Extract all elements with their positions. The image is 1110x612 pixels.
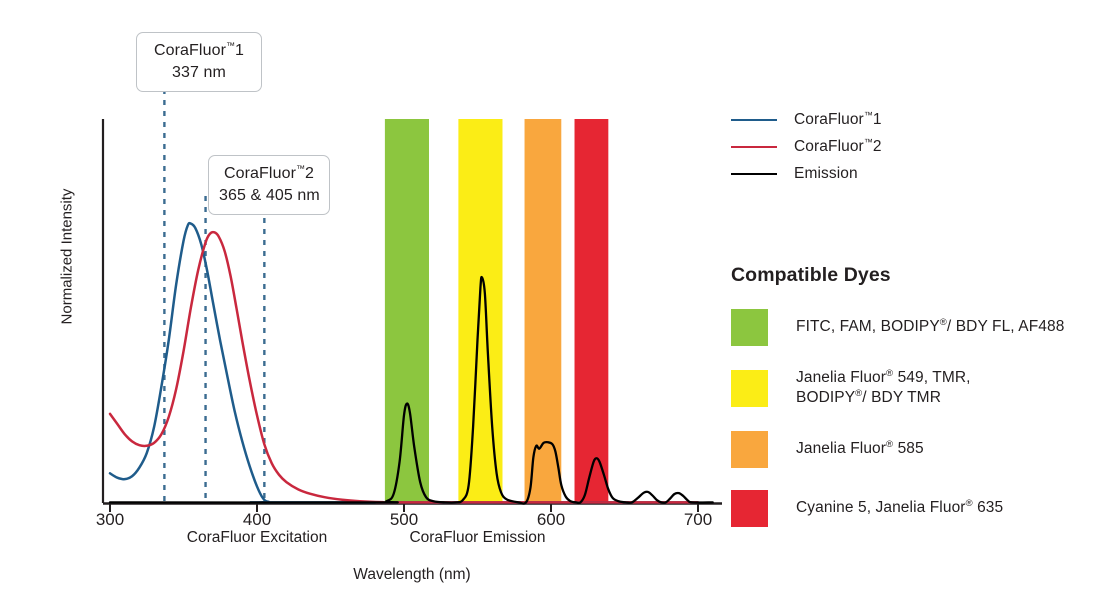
legend-series-row-2[interactable]: CoraFluor™2 [731, 135, 1091, 158]
compatible-dye-bands [385, 119, 608, 504]
annotation-cf2-line1: CoraFluor™2 [219, 163, 319, 185]
trademark-symbol: ™ [864, 136, 873, 146]
dye-legend-row-3[interactable]: Janelia Fluor® 585 [731, 431, 1091, 468]
x-tick-label-500: 500 [374, 510, 434, 530]
compatible-dyes-heading: Compatible Dyes [731, 264, 1091, 287]
x-axis-title: Wavelength (nm) [0, 566, 824, 584]
legend-series-label: CoraFluor™1 [794, 111, 882, 129]
dye-color-swatch [731, 490, 768, 527]
dye-band-3 [525, 119, 562, 504]
dye-name-line: BODIPY®/ BDY TMR [796, 388, 971, 408]
trademark-symbol: ™ [226, 41, 235, 51]
legend-series-row-1[interactable]: CoraFluor™1 [731, 108, 1091, 131]
dye-name-label: Janelia Fluor® 549, TMR,BODIPY®/ BDY TMR [796, 368, 971, 409]
legend-line-swatch [731, 173, 777, 175]
legend-panel: CoraFluor™1CoraFluor™2Emission Compatibl… [731, 108, 1091, 527]
x-tick-label-400: 400 [227, 510, 287, 530]
dye-name-line: Janelia Fluor® 549, TMR, [796, 368, 971, 388]
annotation-cf1-line1: CoraFluor™1 [147, 40, 251, 62]
annotation-cora-fluor-2: CoraFluor™2 365 & 405 nm [208, 155, 330, 215]
x-tick-label-600: 600 [521, 510, 581, 530]
dye-band-2 [458, 119, 502, 504]
legend-series-label: CoraFluor™2 [794, 138, 882, 156]
dye-name-label: Cyanine 5, Janelia Fluor® 635 [796, 498, 1003, 518]
dye-name-line: FITC, FAM, BODIPY®/ BDY FL, AF488 [796, 317, 1064, 337]
series-legend: CoraFluor™1CoraFluor™2Emission [731, 108, 1091, 185]
trademark-symbol: ™ [864, 109, 873, 119]
x-tick-label-300: 300 [80, 510, 140, 530]
legend-series-row-3[interactable]: Emission [731, 162, 1091, 185]
dye-name-line: Janelia Fluor® 585 [796, 439, 924, 459]
dye-color-swatch [731, 309, 768, 346]
y-axis-title: Normalized Intensity [59, 167, 76, 347]
excitation-marker-lines [164, 78, 264, 502]
annotation-cora-fluor-1: CoraFluor™1 337 nm [136, 32, 262, 92]
legend-line-swatch [731, 146, 777, 148]
dye-legend-row-4[interactable]: Cyanine 5, Janelia Fluor® 635 [731, 490, 1091, 527]
dye-name-label: Janelia Fluor® 585 [796, 439, 924, 459]
dye-name-line: Cyanine 5, Janelia Fluor® 635 [796, 498, 1003, 518]
registered-symbol: ® [966, 498, 973, 509]
legend-line-swatch [731, 119, 777, 121]
x-tick-label-700: 700 [668, 510, 728, 530]
dye-band-4 [575, 119, 609, 504]
dye-name-label: FITC, FAM, BODIPY®/ BDY FL, AF488 [796, 317, 1064, 337]
dye-legend-row-1[interactable]: FITC, FAM, BODIPY®/ BDY FL, AF488 [731, 309, 1091, 346]
dye-color-swatch [731, 431, 768, 468]
compatible-dyes-list: FITC, FAM, BODIPY®/ BDY FL, AF488Janelia… [731, 309, 1091, 527]
axis-region-label-emission: CoraFluor Emission [338, 529, 618, 547]
dye-legend-row-2[interactable]: Janelia Fluor® 549, TMR,BODIPY®/ BDY TMR [731, 368, 1091, 409]
annotation-cf2-line2: 365 & 405 nm [219, 185, 319, 207]
trademark-symbol: ™ [296, 164, 305, 174]
dye-band-1 [385, 119, 429, 504]
annotation-cf1-line2: 337 nm [147, 62, 251, 84]
registered-symbol: ® [940, 317, 947, 328]
legend-series-label: Emission [794, 165, 858, 183]
figure-canvas: CoraFluor™1 337 nm CoraFluor™2 365 & 405… [0, 0, 1110, 612]
dye-color-swatch [731, 370, 768, 407]
